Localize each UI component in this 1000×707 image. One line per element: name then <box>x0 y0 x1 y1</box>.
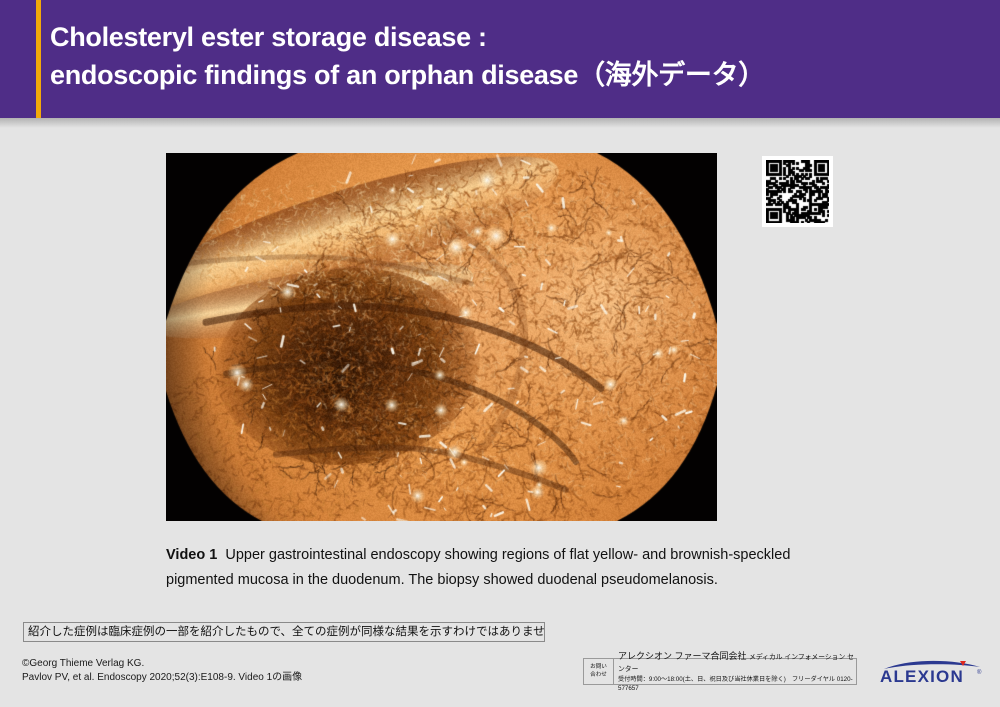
alexion-logo-svg: ALEXION ® <box>876 660 986 686</box>
endoscopy-canvas <box>166 153 717 521</box>
qr-code-canvas <box>766 160 829 223</box>
qr-code[interactable] <box>762 156 833 227</box>
contact-label: お問い 合わせ <box>584 659 614 684</box>
disclaimer-box: 紹介した症例は臨床症例の一部を紹介したもので、全ての症例が同様な結果を示すわけで… <box>23 622 545 642</box>
logo-trademark: ® <box>977 669 982 676</box>
contact-label-line2: 合わせ <box>590 672 607 680</box>
contact-label-line1: お問い <box>590 664 607 672</box>
figure-caption: Video 1 Upper gastrointestinal endoscopy… <box>166 543 806 593</box>
contact-hours: 受付時間：9:00〜18:00(土、日、祝日及び当社休業日を除く) フリーダイヤ… <box>618 675 856 693</box>
alexion-logo: ALEXION ® <box>876 660 986 686</box>
caption-text: Upper gastrointestinal endoscopy showing… <box>166 547 790 588</box>
header-shadow <box>0 118 1000 128</box>
endoscopy-image <box>166 153 717 521</box>
caption-label: Video 1 <box>166 547 217 563</box>
page-title: Cholesteryl ester storage disease : endo… <box>50 18 950 94</box>
contact-body: アレクシオン ファーマ合同会社 メディカル インフォメーション センター 受付時… <box>614 659 856 684</box>
copyright-credit: ©Georg Thieme Verlag KG. Pavlov PV, et a… <box>22 657 442 684</box>
contact-box: お問い 合わせ アレクシオン ファーマ合同会社 メディカル インフォメーション … <box>583 658 857 685</box>
contact-company: アレクシオン ファーマ合同会社 <box>618 651 747 661</box>
contact-company-line: アレクシオン ファーマ合同会社 メディカル インフォメーション センター <box>618 651 856 675</box>
logo-wordmark: ALEXION <box>880 667 964 686</box>
header-accent-bar <box>36 0 41 118</box>
